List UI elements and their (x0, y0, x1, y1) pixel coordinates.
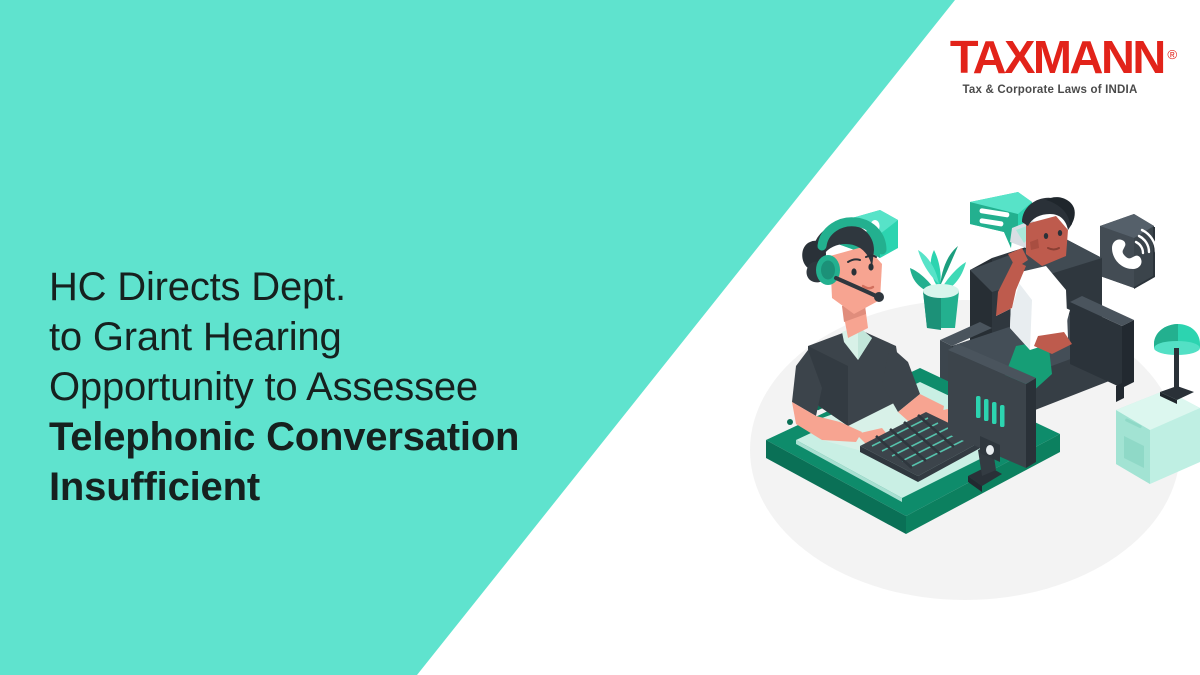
logo-tagline: Tax & Corporate Laws of INDIA (952, 84, 1148, 96)
headline-line-2: to Grant Hearing (49, 312, 649, 362)
poster-canvas: HC Directs Dept. to Grant Hearing Opport… (0, 0, 1200, 675)
headline-line-4: Telephonic Conversation (49, 412, 649, 462)
logo-wordmark-text: TAXMANN ® (950, 33, 1164, 81)
page-title: HC Directs Dept. to Grant Hearing Opport… (49, 262, 649, 512)
taxmann-logo: TAXMANN ® Tax & Corporate Laws of INDIA (952, 33, 1148, 96)
registered-trademark-icon: ® (1167, 31, 1177, 79)
logo-wordmark-label: TAXMANN (950, 31, 1164, 83)
customer-support-call-illustration (730, 150, 1200, 600)
headline-line-5: Insufficient (49, 462, 649, 512)
phone-call-icon-card (1100, 214, 1156, 289)
table-lamp (1154, 324, 1200, 404)
headline-line-1: HC Directs Dept. (49, 262, 649, 312)
headline-line-3: Opportunity to Assessee (49, 362, 649, 412)
